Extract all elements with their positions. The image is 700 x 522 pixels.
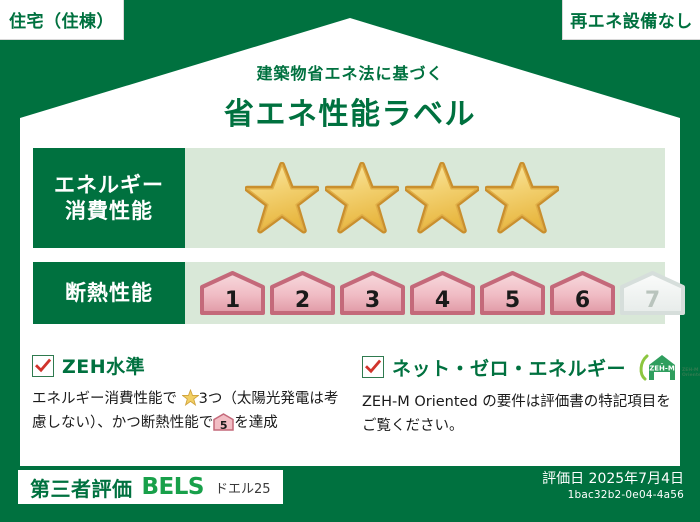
zeh-m-caption-line1: ZEH-M [682,368,698,373]
insulation-badge-value: 1 [199,290,266,312]
footer-bels-badge: 第三者評価 BELS ドエル25 [18,470,283,504]
insulation-badge: 5 [479,271,546,315]
zeh-m-caption-line2: Oriented [682,373,700,378]
row-insulation-performance: 断熱性能 1234567 [33,262,665,324]
star-icon [485,162,559,234]
title-subtitle: 建築物省エネ法に基づく [0,60,700,84]
criteria-nze-body: ZEH-M Oriented の要件は評価書の特記項目をご覧ください。 [362,391,672,439]
criteria-zeh-text-part1: エネルギー消費性能で [32,391,177,407]
title-main: 省エネ性能ラベル [0,89,700,133]
insulation-grade-scale: 1234567 [185,262,686,324]
tag-building-type-text: 住宅（住棟） [9,7,114,32]
tag-renewable-energy: 再エネ設備なし [562,0,700,40]
star-rating [185,148,665,248]
criteria-zeh-body: エネルギー消費性能で 3つ（太陽光発電は考慮しない）、かつ断熱性能で 5 を達成 [32,388,352,436]
criteria-zeh-title: ZEH水準 [62,352,145,379]
criteria-zeh-header: ZEH水準 [32,352,352,379]
star-icon [325,162,399,234]
star-icon-inline [182,389,199,406]
tag-renewable-energy-text: 再エネ設備なし [570,7,693,32]
checkmark-icon [32,355,54,377]
insulation-badge: 1 [199,271,266,315]
insulation-badge-icon-inline: 5 [213,413,234,431]
star-icon [405,162,479,234]
insulation-badge-value: 6 [549,290,616,312]
criteria-net-zero-energy: ネット・ゼロ・エネルギー ZEH-M ZEH-M Oriented ZEH-M … [362,352,672,439]
zeh-m-logo: ZEH-M ZEH-M Oriented [638,352,700,382]
row-energy-label: エネルギー 消費性能 [33,148,185,248]
row-energy-label-line2: 消費性能 [65,198,153,224]
insulation-badge: 3 [339,271,406,315]
criteria-nze-title: ネット・ゼロ・エネルギー [392,354,626,381]
insulation-badge-value: 7 [619,290,686,312]
insulation-badge-value: 2 [269,290,336,312]
tag-building-type: 住宅（住棟） [0,0,124,40]
row-insulation-label-line1: 断熱性能 [65,280,153,306]
row-insulation-label: 断熱性能 [33,262,185,324]
row-energy-label-line1: エネルギー [54,172,164,198]
building-name: ドエル25 [215,478,271,497]
row-energy-performance: エネルギー 消費性能 [33,148,665,248]
insulation-badge: 6 [549,271,616,315]
zeh-m-logo-text: ZEH-M [649,365,675,373]
criteria-nze-header: ネット・ゼロ・エネルギー ZEH-M ZEH-M Oriented [362,352,672,382]
checkmark-icon [362,356,384,378]
energy-performance-label: 住宅（住棟） 再エネ設備なし 建築物省エネ法に基づく 省エネ性能ラベル エネルギ… [0,0,700,522]
insulation-badge-inline-value: 5 [213,420,234,431]
third-party-eval-label: 第三者評価 [30,473,133,502]
evaluation-date: 評価日 2025年7月4日 [542,470,684,488]
bels-mark: BELS [142,474,204,500]
zeh-m-logo-caption: ZEH-M Oriented [682,368,700,382]
insulation-badge-value: 3 [339,290,406,312]
criteria-zeh-text-part3: を達成 [234,415,278,431]
insulation-badge-value: 5 [479,290,546,312]
insulation-badge: 4 [409,271,476,315]
insulation-badge: 7 [619,271,686,315]
label-title: 建築物省エネ法に基づく 省エネ性能ラベル [0,60,700,133]
criteria-zeh-standard: ZEH水準 エネルギー消費性能で 3つ（太陽光発電は考慮しない）、かつ断熱性能で… [32,352,352,436]
star-icon [245,162,319,234]
footer-evaluation-meta: 評価日 2025年7月4日 1bac32b2-0e04-4a56 [542,470,684,503]
insulation-badge: 2 [269,271,336,315]
insulation-badge-value: 4 [409,290,476,312]
evaluation-id: 1bac32b2-0e04-4a56 [542,488,684,503]
